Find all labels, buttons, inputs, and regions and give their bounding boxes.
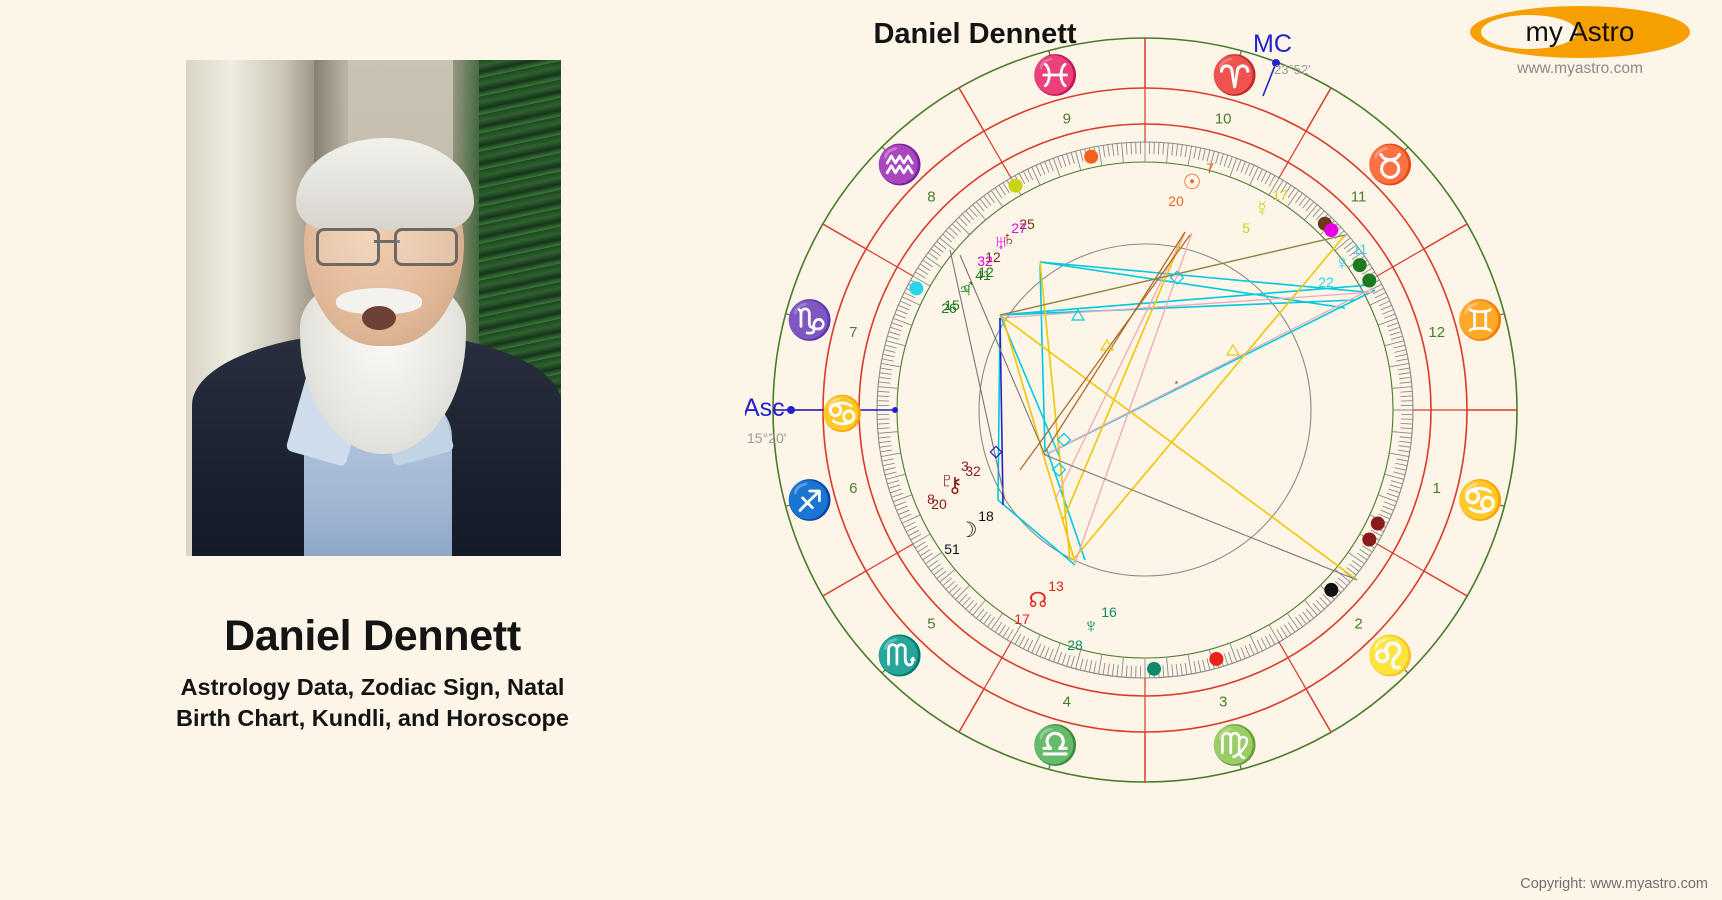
planet-dot-neptune[interactable] [1147,662,1161,676]
planet-glyph-moon: ☽ [959,519,978,542]
degree-tick [1303,612,1310,621]
degree-tick [904,522,915,527]
planet-minute-venus: 22 [1318,274,1334,290]
degree-tick [1045,647,1049,658]
degree-tick [1398,450,1410,452]
degree-tick [885,472,897,475]
aspect-lines-yellow [1000,232,1357,580]
degree-tick [906,526,917,531]
planet-minute-northnode: 17 [1014,611,1030,627]
degree-tick [1287,613,1298,629]
planet-label-jupiter[interactable]: ♃4126 [941,267,991,316]
page-subtitle: Astrology Data, Zodiac Sign, Natal Birth… [0,672,745,735]
degree-tick [892,493,903,497]
degree-tick [1071,152,1074,164]
sign-glyph-cancer: ♋ [1457,478,1504,522]
degree-tick [1384,314,1395,318]
photo-glasses-lens-left [316,228,380,266]
aspect-marker-square [990,446,1001,457]
degree-tick [1003,183,1009,193]
degree-tick [1085,659,1088,671]
planet-dot-venus[interactable] [909,281,923,295]
sign-divider [1306,88,1331,131]
degree-tick [1080,658,1083,670]
degree-tick [1385,341,1404,346]
sign-divider [959,689,984,732]
degree-tick [1185,145,1187,157]
degree-tick [1379,301,1390,306]
sign-divider [1424,224,1467,249]
degree-tick [1040,163,1045,174]
degree-tick [1396,359,1408,361]
sign-glyph-scorpio: ♏ [876,633,923,677]
degree-tick [995,622,1002,632]
sign-divider [823,224,866,249]
degree-tick [1080,150,1083,162]
degree-tick [915,542,925,548]
planet-dot-jupiter[interactable] [1353,258,1367,272]
degree-tick [991,613,1002,629]
degree-tick [1303,199,1310,208]
planet-degree-neptune: 16 [1101,604,1117,620]
planet-dot-chiron[interactable] [1362,533,1376,547]
degree-tick [1089,660,1091,672]
degree-tick [1181,664,1183,676]
degree-tick [1058,652,1062,663]
degree-tick [980,199,987,208]
sign-divider [959,88,984,131]
aspect-markers: ⋆ [990,271,1239,476]
degree-tick [898,510,909,515]
degree-tick [902,515,920,523]
degree-tick [1389,363,1409,366]
degree-tick [1032,167,1040,185]
degree-tick [1032,635,1040,653]
planet-glyph-sun: ☉ [1183,171,1202,194]
planet-degree-northnode: 13 [1048,578,1064,594]
sign-glyph-taurus: ♉ [1367,143,1414,187]
degree-tick [882,359,894,361]
degree-tick [1015,634,1021,644]
degree-tick [878,387,898,389]
degree-tick [1181,145,1183,157]
planet-glyph-uranus: ♅ [994,232,1009,254]
degree-tick [1176,144,1177,156]
degree-tick [984,614,991,624]
degree-tick [923,553,933,560]
ring-house-outer [859,124,1431,696]
degree-tick [882,459,894,461]
planet-label-neptune[interactable]: ♆1628 [1067,604,1117,653]
degree-tick [1265,173,1271,184]
degree-tick [1250,635,1258,653]
degree-tick [1384,502,1395,506]
degree-tick [877,396,889,397]
degree-tick [925,256,941,267]
planet-degree-sun: 7 [1206,160,1214,176]
degree-tick [898,305,909,310]
degree-tick-marks [877,142,1413,678]
degree-tick [1117,143,1118,155]
degree-tick [1108,664,1110,676]
degree-tick [1257,169,1262,180]
degree-tick [991,190,1002,206]
degree-tick [1295,193,1302,203]
ascendant-marker: Asc 15°20' ♋ [745,394,898,446]
degree-tick [1203,149,1206,161]
degree-tick [1391,481,1403,484]
degree-tick [1400,437,1412,438]
degree-tick [897,310,908,314]
degree-tick [880,368,892,370]
planet-dot-pluto[interactable] [1371,517,1385,531]
asc-dot [787,406,795,414]
degree-tick [890,489,901,493]
degree-tick [895,314,906,318]
planet-degree-uranus: 27 [1011,220,1027,236]
degree-tick [1224,155,1228,166]
degree-tick [1400,428,1412,429]
degree-tick [879,441,891,442]
degree-tick [1393,345,1405,348]
degree-tick [1131,142,1132,154]
degree-tick [1360,549,1370,556]
degree-tick [1281,627,1287,637]
degree-tick [880,450,892,452]
degree-tick [1188,654,1191,674]
degree-tick [1399,373,1411,375]
degree-tick [1399,377,1411,378]
degree-tick [1207,658,1210,670]
planet-dot-mercury[interactable] [1009,179,1023,193]
degree-tick [940,238,955,251]
degree-tick [1167,143,1169,163]
degree-tick [890,327,901,331]
degree-tick [1167,657,1169,677]
sign-glyph-leo: ♌ [1367,633,1414,677]
degree-tick [984,196,991,206]
degree-tick [1382,506,1393,510]
degree-tick [1062,653,1066,664]
degree-tick [911,534,921,540]
degree-tick [1390,485,1401,489]
degree-tick [881,453,901,456]
degree-tick [928,560,938,567]
degree-tick [902,297,920,305]
degree-tick [883,463,895,465]
house-number: 12 [1428,324,1445,341]
sign-divider [1424,571,1467,596]
degree-tick [973,600,986,615]
sign-glyph-aquarius: ♒ [876,143,923,187]
degree-tick [1241,162,1245,173]
degree-tick [1295,617,1302,627]
planet-glyph-northnode: ☊ [1029,589,1048,612]
degree-tick [1067,655,1071,666]
degree-tick [1395,354,1407,356]
degree-tick [1265,636,1271,647]
degree-tick [1401,423,1413,424]
house-number: 9 [1063,110,1071,127]
degree-tick [1098,654,1101,674]
degree-tick [1392,387,1412,389]
degree-tick [1126,665,1127,677]
subtitle-line-2: Birth Chart, Kundli, and Horoscope [0,703,745,734]
degree-tick [1062,155,1066,166]
degree-tick [1237,649,1241,660]
degree-tick [1237,160,1241,171]
degree-tick [1045,162,1049,173]
asc-inner-dot [892,407,898,413]
degree-tick [1158,142,1159,154]
degree-tick [1393,472,1405,475]
degree-tick [934,245,943,252]
house-number: 7 [849,324,857,341]
degree-tick [1304,205,1317,220]
degree-tick [1198,148,1200,160]
degree-tick [887,336,899,339]
house-number: 1 [1433,480,1441,497]
degree-tick [1028,640,1033,651]
house-number: 8 [927,188,935,205]
degree-tick [1040,646,1045,657]
degree-tick [1049,160,1053,171]
degree-tick [913,534,930,544]
degree-tick [955,585,969,599]
degree-tick [1381,510,1392,515]
planet-dot-northnode[interactable] [1209,652,1223,666]
degree-tick [1269,625,1279,642]
degree-tick [1357,553,1367,560]
degree-tick [1299,196,1306,206]
degree-tick [1172,665,1173,677]
planet-label-mercury[interactable]: ☿175 [1242,187,1288,236]
degree-tick [934,568,943,575]
degree-tick [915,272,925,278]
degree-tick [1188,146,1191,166]
degree-tick [1249,644,1254,655]
degree-tick [1382,310,1393,314]
degree-tick [1391,336,1403,339]
degree-tick [1269,634,1275,644]
planet-glyph-labels[interactable]: ☉720☿175♀1122♂1215♃4126♄2512♅2732♆1628♇3… [927,160,1367,653]
degree-tick [1362,546,1372,552]
degree-tick [1098,146,1101,166]
degree-tick [1241,647,1245,658]
degree-tick [889,332,900,336]
degree-tick [1172,143,1173,155]
planet-minute-jupiter: 26 [941,300,957,316]
degree-tick [1398,368,1410,370]
degree-tick [878,391,890,392]
degree-tick [1381,305,1392,310]
degree-tick [1304,600,1317,615]
sign-divider [1306,689,1331,732]
degree-tick [1385,474,1404,479]
degree-tick [892,323,903,327]
degree-tick [1011,625,1021,642]
degree-tick [1399,441,1411,442]
degree-tick [1390,332,1401,336]
degree-tick [1028,169,1033,180]
degree-tick [878,437,890,438]
sign-glyph-capricorn: ♑ [786,298,833,342]
degree-tick [1058,157,1062,168]
degree-tick [1117,665,1118,677]
degree-tick [1103,663,1105,675]
degree-tick [1176,664,1177,676]
degree-tick [1228,157,1232,168]
degree-tick [1224,653,1228,664]
degree-tick [1203,659,1206,671]
degree-tick [887,481,899,484]
house-number: 4 [1063,694,1071,711]
degree-tick [1249,165,1254,176]
degree-tick [999,625,1006,635]
house-number-labels: 123456789101112 [849,110,1445,710]
degree-tick [1076,151,1081,170]
planet-dot-sun[interactable] [1084,150,1098,164]
degree-tick [999,185,1006,195]
degree-tick [883,354,895,356]
degree-tick [1112,664,1113,676]
degree-tick [1392,432,1412,434]
planet-minute-neptune: 28 [1067,637,1083,653]
degree-tick [1287,190,1298,206]
natal-chart-wheel[interactable]: 123456789101112 ♋♌♍♎♏♐♑♒♓♈♉♊ [745,0,1722,900]
degree-tick [1185,663,1187,675]
degree-tick [884,468,896,471]
house-number: 11 [1351,188,1367,205]
sign-glyph-sagittarius: ♐ [786,478,833,522]
degree-tick [1007,629,1013,639]
degree-tick [1370,297,1388,305]
planet-label-northnode[interactable]: ☊1317 [1014,578,1064,627]
degree-tick [880,446,892,448]
degree-tick [1400,391,1412,392]
degree-tick [1216,152,1219,164]
degree-tick [1023,638,1028,649]
mc-degree: 23°52' [1274,62,1311,77]
asc-sign-glyph: ♋ [821,394,863,433]
midheaven-marker: MC 23°52' [1253,30,1311,96]
degree-tick [1250,167,1258,185]
degree-tick [920,549,930,556]
degree-tick [1023,171,1028,182]
planet-dot-uranus[interactable] [1324,223,1338,237]
degree-tick [1395,463,1407,465]
degree-tick [900,301,911,306]
degree-tick [1352,560,1362,567]
subtitle-line-1: Astrology Data, Zodiac Sign, Natal [0,672,745,703]
degree-tick [1401,396,1413,397]
degree-tick [881,363,901,366]
degree-tick [980,612,987,621]
planet-label-sun[interactable]: ☉720 [1168,160,1214,209]
sign-glyph-aries: ♈ [1211,53,1258,97]
degree-tick [908,530,919,536]
degree-tick [1284,625,1291,635]
degree-tick [1228,652,1232,663]
degree-tick [1108,145,1110,157]
degree-tick [895,502,906,506]
degree-tick [1163,665,1164,677]
degree-tick [1388,489,1399,493]
planet-minute-chiron: 20 [931,496,947,512]
degree-tick [1288,622,1295,632]
degree-tick [1220,154,1224,165]
house-number: 6 [849,480,857,497]
degree-tick [1399,446,1411,448]
planet-degree-mercury: 17 [1272,187,1288,203]
degree-tick [1071,656,1074,668]
degree-tick [973,205,986,220]
degree-tick [878,428,890,429]
degree-tick [918,546,928,552]
degree-tick [1394,468,1406,471]
degree-tick [995,188,1002,198]
degree-tick [1019,636,1025,647]
degree-tick [987,617,994,627]
degree-tick [1348,552,1364,563]
planet-degree-moon: 18 [978,508,994,524]
degree-tick [1245,163,1250,174]
degree-tick [884,350,896,353]
degree-tick [1299,614,1306,624]
planet-degree-chiron: 32 [965,463,981,479]
planet-label-moon[interactable]: ☽1851 [944,508,994,557]
degree-tick [1400,382,1412,383]
degree-tick [918,268,928,274]
house-number: 2 [1354,616,1362,633]
person-name: Daniel Dennett [0,612,745,661]
sign-glyph-virgo: ♍ [1211,723,1258,767]
planet-minute-sun: 20 [1168,193,1184,209]
degree-tick [900,514,911,519]
degree-tick [1375,293,1386,298]
degree-tick [889,485,900,489]
degree-tick [1257,640,1262,651]
planet-glyph-jupiter: ♃ [958,279,973,301]
sign-glyph-pisces: ♓ [1032,53,1079,97]
degree-tick [1198,660,1200,672]
photo-glasses-lens-right [394,228,458,266]
degree-tick [928,252,938,259]
aspect-lines-grey [950,235,1357,580]
degree-tick [1373,288,1384,293]
degree-tick [1194,661,1196,673]
mc-label: MC [1253,30,1292,58]
degree-tick [955,220,969,234]
degree-tick [920,264,930,271]
sign-glyph-libra: ♎ [1032,723,1079,767]
planet-dot-moon[interactable] [1324,583,1338,597]
degree-tick [925,552,941,563]
degree-tick [879,377,891,378]
degree-tick [1261,171,1266,182]
planet-glyph-mercury: ☿ [1254,196,1271,221]
degree-tick [1163,143,1164,155]
degree-tick [1269,176,1275,186]
degree-tick [1036,644,1041,655]
degree-tick [931,249,941,256]
planet-minute-mercury: 5 [1242,220,1250,236]
planet-degree-jupiter: 41 [975,267,991,283]
degree-tick [987,193,994,203]
planet-dot-mars[interactable] [1362,274,1376,288]
degree-tick [1389,453,1409,456]
degree-tick [1349,564,1359,571]
